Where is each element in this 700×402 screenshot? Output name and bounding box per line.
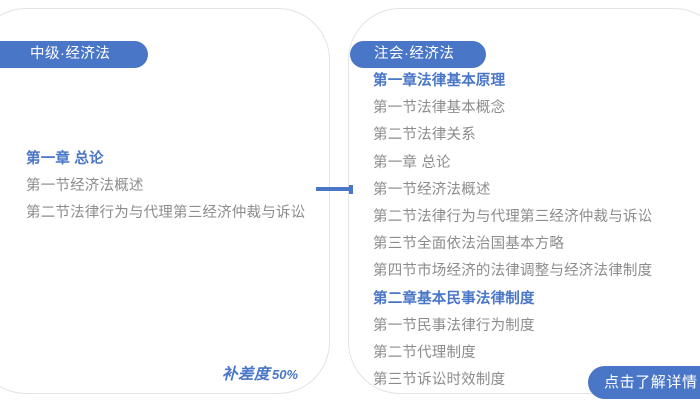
outline-item: 第一章 总论 (26, 146, 326, 173)
outline-item: 第四节市场经济的法律调整与经济法律制度 (373, 258, 700, 285)
outline-item: 第一节民事法律行为制度 (373, 313, 700, 340)
supplement-progress-label: 补差度 (222, 366, 270, 383)
supplement-progress-note: 补差度50% (222, 362, 298, 384)
outline-item: 第一章法律基本原理 (373, 68, 700, 95)
outline-item: 第一章 总论 (373, 150, 700, 177)
outline-item: 第一节经济法概述 (26, 173, 326, 200)
learn-more-button[interactable]: 点击了解详情 (588, 366, 700, 399)
comparison-diagram: 中级·经济法 注会·经济法 第一章 总论 第一节经济法概述 第二节法律行为与代理… (0, 0, 700, 402)
supplement-progress-value: 50% (272, 367, 298, 382)
outline-item: 第二节法律行为与代理第三经济仲裁与诉讼 (26, 200, 326, 227)
outline-item: 第二章基本民事法律制度 (373, 286, 700, 313)
outline-item: 第一节经济法概述 (373, 177, 700, 204)
outline-item: 第二节法律行为与代理第三经济仲裁与诉讼 (373, 204, 700, 231)
outline-item: 第二节代理制度 (373, 340, 700, 367)
right-card-outline-list: 第一章法律基本原理 第一节法律基本概念 第二节法律关系 第一章 总论 第一节经济… (373, 68, 700, 394)
right-card-badge: 注会·经济法 (350, 41, 486, 68)
left-card-badge: 中级·经济法 (0, 41, 148, 68)
outline-item: 第一节法律基本概念 (373, 95, 700, 122)
arrow-right-icon (316, 187, 352, 191)
outline-item: 第二节法律关系 (373, 122, 700, 149)
outline-item: 第三节全面依法治国基本方略 (373, 231, 700, 258)
left-card-outline-list: 第一章 总论 第一节经济法概述 第二节法律行为与代理第三经济仲裁与诉讼 (26, 146, 326, 228)
